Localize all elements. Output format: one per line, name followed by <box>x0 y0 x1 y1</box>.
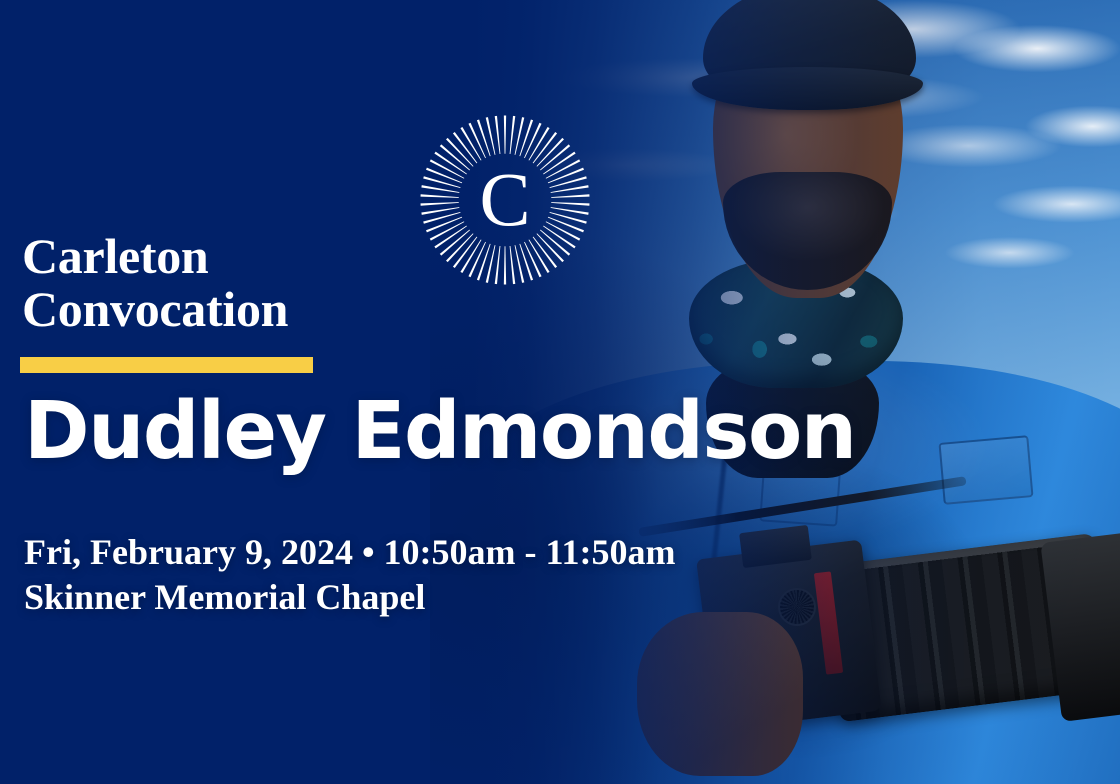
heading-line-2: Convocation <box>22 281 288 337</box>
heading-line-1: Carleton <box>22 228 208 284</box>
poster-content: C Carleton Convocation Dudley Edmondson … <box>0 0 1120 784</box>
speaker-name: Dudley Edmondson <box>24 392 1024 471</box>
convocation-poster: C Carleton Convocation Dudley Edmondson … <box>0 0 1120 784</box>
logo-letter-c: C <box>479 158 530 243</box>
gold-accent-rule <box>20 357 313 373</box>
event-venue: Skinner Memorial Chapel <box>24 575 924 620</box>
carleton-sunburst-c-logo: C <box>416 111 594 289</box>
event-datetime: Fri, February 9, 2024 • 10:50am - 11:50a… <box>24 532 676 572</box>
event-details: Fri, February 9, 2024 • 10:50am - 11:50a… <box>24 530 924 619</box>
page-title: Carleton Convocation <box>22 230 422 336</box>
